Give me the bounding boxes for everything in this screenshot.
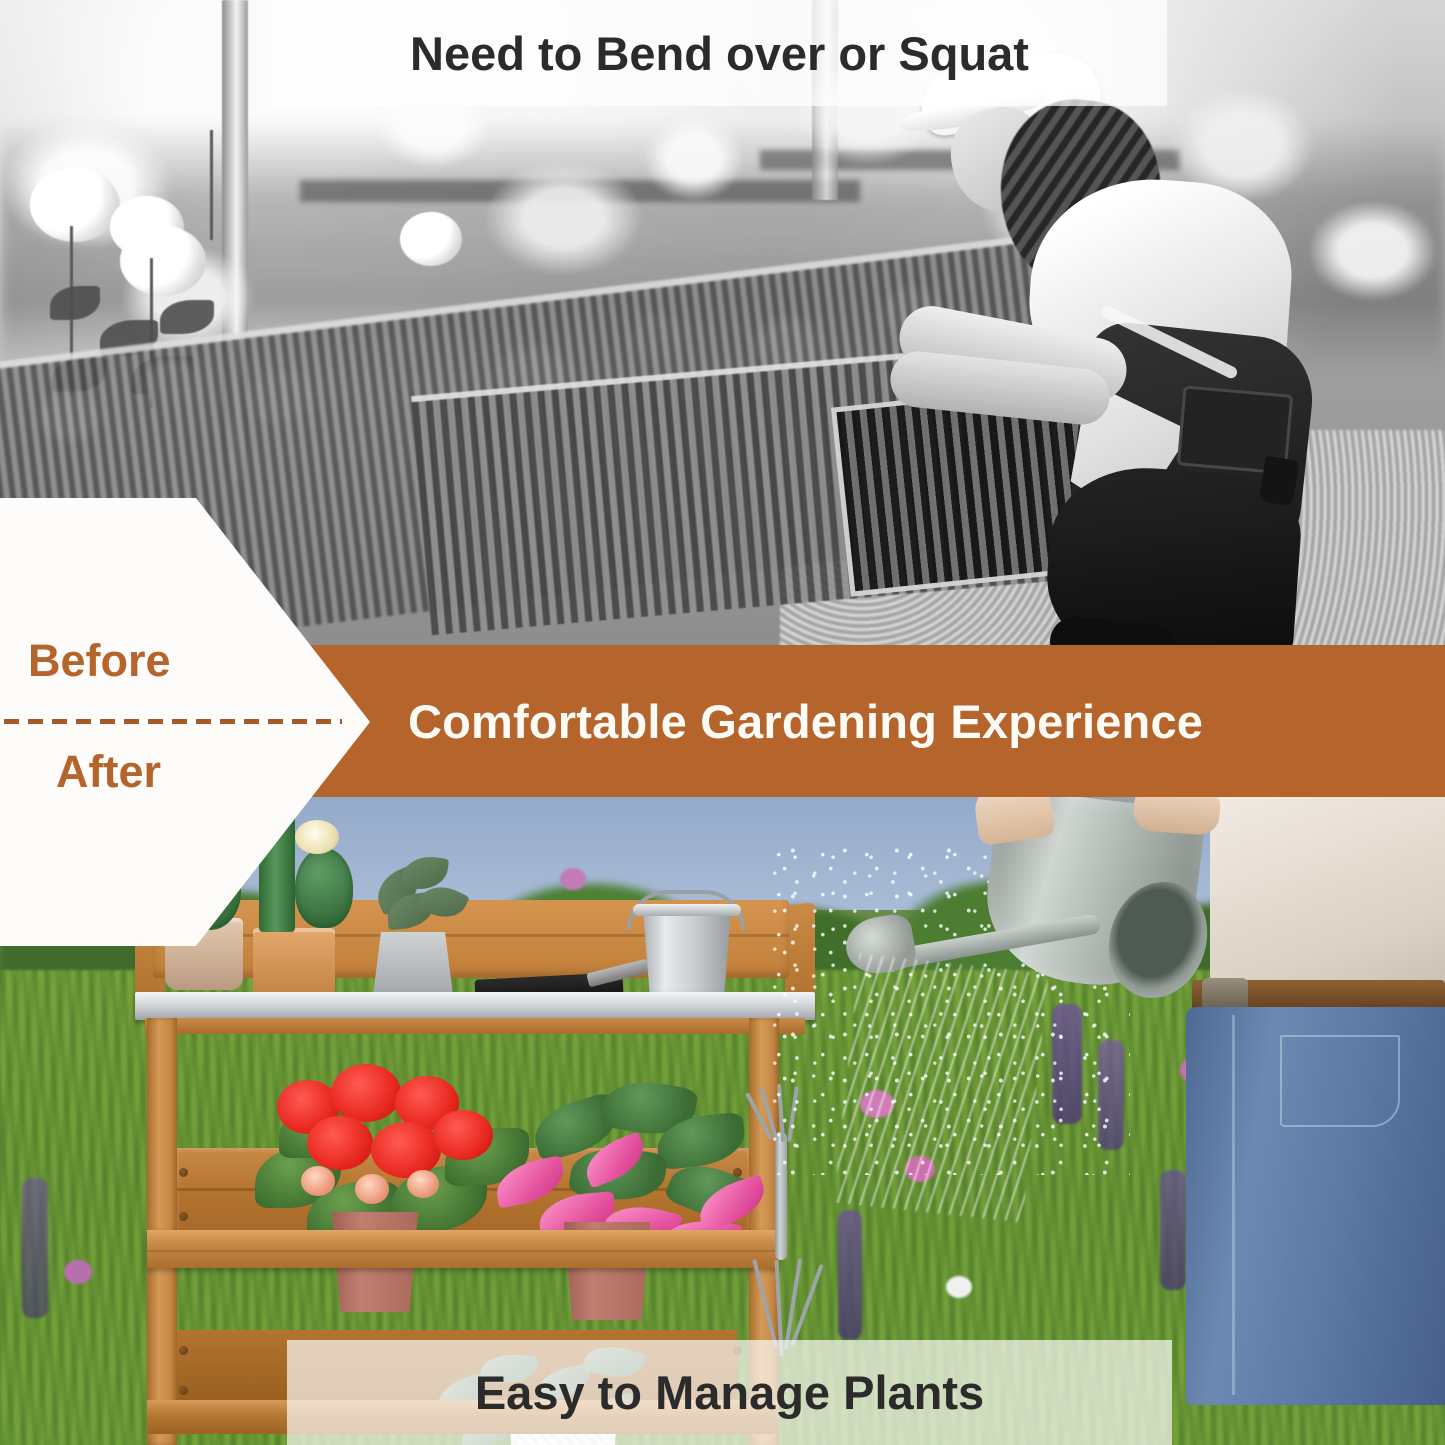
wildflower [22,1178,48,1318]
jeans-seam [1232,1015,1235,1395]
light-shirt [1210,790,1445,995]
bench-screw [179,1168,188,1177]
begonia-flower [331,1064,401,1122]
bucket-rim [633,904,741,916]
cactus-flower [295,820,339,854]
begonia-flower [371,1122,441,1178]
standing-gardener [880,790,1445,1405]
bench-screw [733,1168,742,1177]
water-stream [833,954,1048,1222]
bench-apron [145,1018,805,1034]
squatting-gardener [880,60,1310,660]
rose-stem [210,130,213,240]
begonia-bud [355,1174,389,1204]
rose-bloom [30,168,120,242]
divider-title: Comfortable Gardening Experience [408,645,1418,797]
wildflower [838,1210,862,1340]
divider-dashed-line [4,719,342,724]
wildflower [560,868,586,890]
begonia-flower [433,1110,493,1160]
bench-metal-top [135,992,815,1020]
bench-screw [179,1346,188,1355]
wildflower [64,1260,92,1284]
begonia-bud [301,1166,335,1196]
bench-screw [179,1212,188,1221]
before-label: Before [28,634,328,688]
product-comparison-image: Comfortable Gardening Experience Before … [0,0,1445,1445]
top-caption-text: Need to Bend over or Squat [272,0,1167,106]
bottom-caption-text: Easy to Manage Plants [287,1340,1172,1445]
begonia-flower [307,1116,373,1170]
barrel-cactus [295,848,353,928]
jeans-pocket [1280,1035,1400,1127]
bench-screw [179,1386,188,1395]
after-label: After [56,745,356,799]
bench-middle-shelf [147,1230,779,1268]
begonia-bud [407,1170,439,1198]
